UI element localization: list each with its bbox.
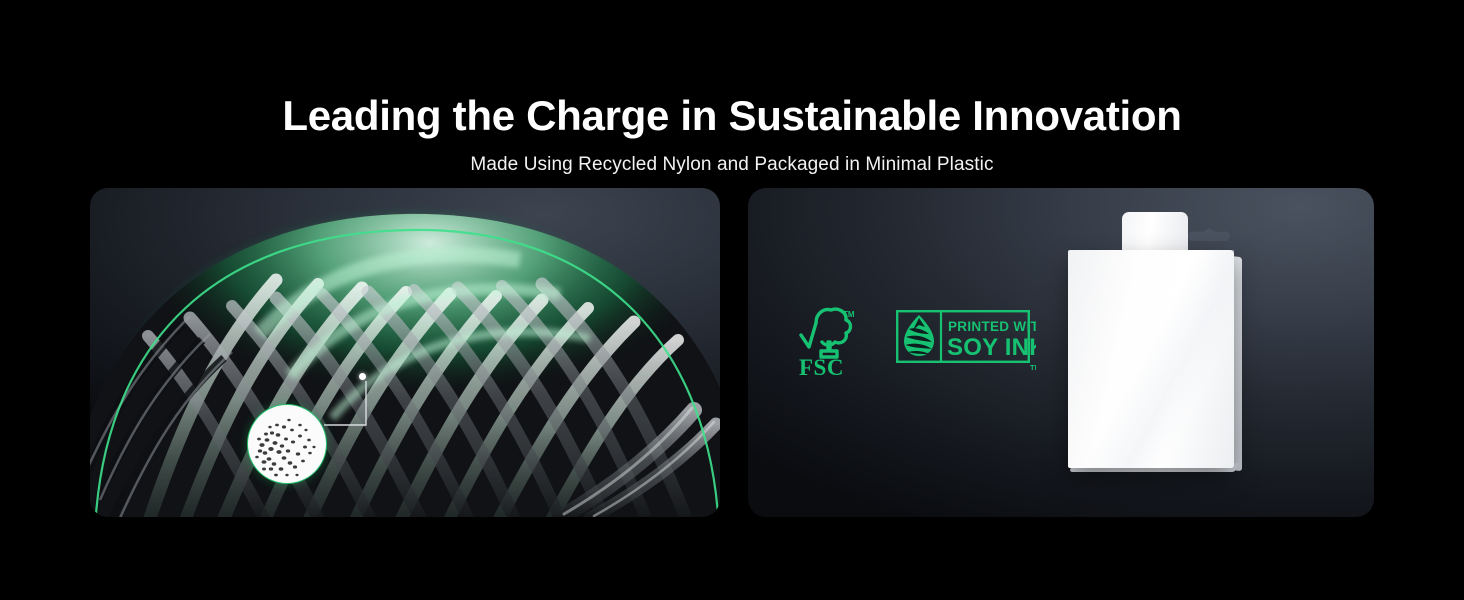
page-title: Leading the Charge in Sustainable Innova… xyxy=(0,0,1464,140)
panel-minimal-plastic-packaging: TM FSC xyxy=(748,188,1374,517)
panel-recycled-nylon-cable xyxy=(90,188,720,517)
sustainability-banner: Leading the Charge in Sustainable Innova… xyxy=(0,0,1464,600)
callout-anchor-dot xyxy=(359,373,366,380)
package-front-face xyxy=(1068,250,1234,468)
retail-package-box xyxy=(1068,212,1258,497)
fsc-label: FSC xyxy=(799,355,844,377)
certification-logos: TM FSC xyxy=(796,305,1036,377)
cable-illustration xyxy=(90,188,720,517)
callout-leader-line xyxy=(322,377,368,439)
recycled-pellets-callout xyxy=(247,404,327,484)
soy-ink-line-2: SOY INK xyxy=(947,334,1036,361)
soy-ink-line-1: PRINTED WITH xyxy=(948,319,1036,334)
soy-ink-trademark: TM xyxy=(1030,363,1036,372)
banner-header: Leading the Charge in Sustainable Innova… xyxy=(0,0,1464,177)
euro-slot-hole-icon xyxy=(1188,228,1230,242)
fsc-trademark: TM xyxy=(843,310,855,319)
fsc-certification-icon: TM FSC xyxy=(796,305,858,377)
nylon-pellets-icon xyxy=(248,405,326,483)
page-subtitle: Made Using Recycled Nylon and Packaged i… xyxy=(0,140,1464,177)
soy-ink-certification-icon: PRINTED WITH SOY INK TM xyxy=(896,310,1036,372)
braided-cable-graphic xyxy=(90,188,720,517)
